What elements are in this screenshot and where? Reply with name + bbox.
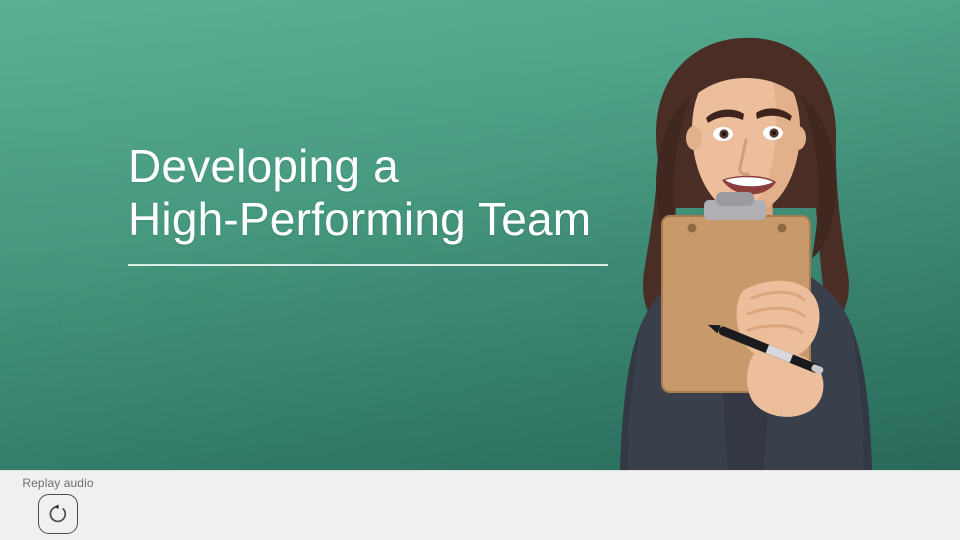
player-bottom-bar: Replay audio Welcome to your module, Dev…	[0, 470, 960, 540]
replay-audio-label: Replay audio	[22, 476, 93, 490]
replay-audio-button[interactable]	[38, 494, 78, 534]
slide-stage: Developing a High-Performing Team	[0, 0, 960, 470]
title-divider-rule	[128, 264, 608, 266]
bar-top-edge	[0, 470, 960, 471]
slide-screen: Developing a High-Performing Team	[0, 0, 960, 540]
page-title: Developing a High-Performing Team	[128, 140, 628, 246]
replay-circular-arrow-icon	[47, 503, 69, 525]
presenter-illustration	[596, 22, 896, 470]
title-line-1: Developing a	[128, 140, 628, 193]
title-line-2: High-Performing Team	[128, 193, 628, 246]
replay-audio-control[interactable]: Replay audio	[0, 470, 116, 540]
